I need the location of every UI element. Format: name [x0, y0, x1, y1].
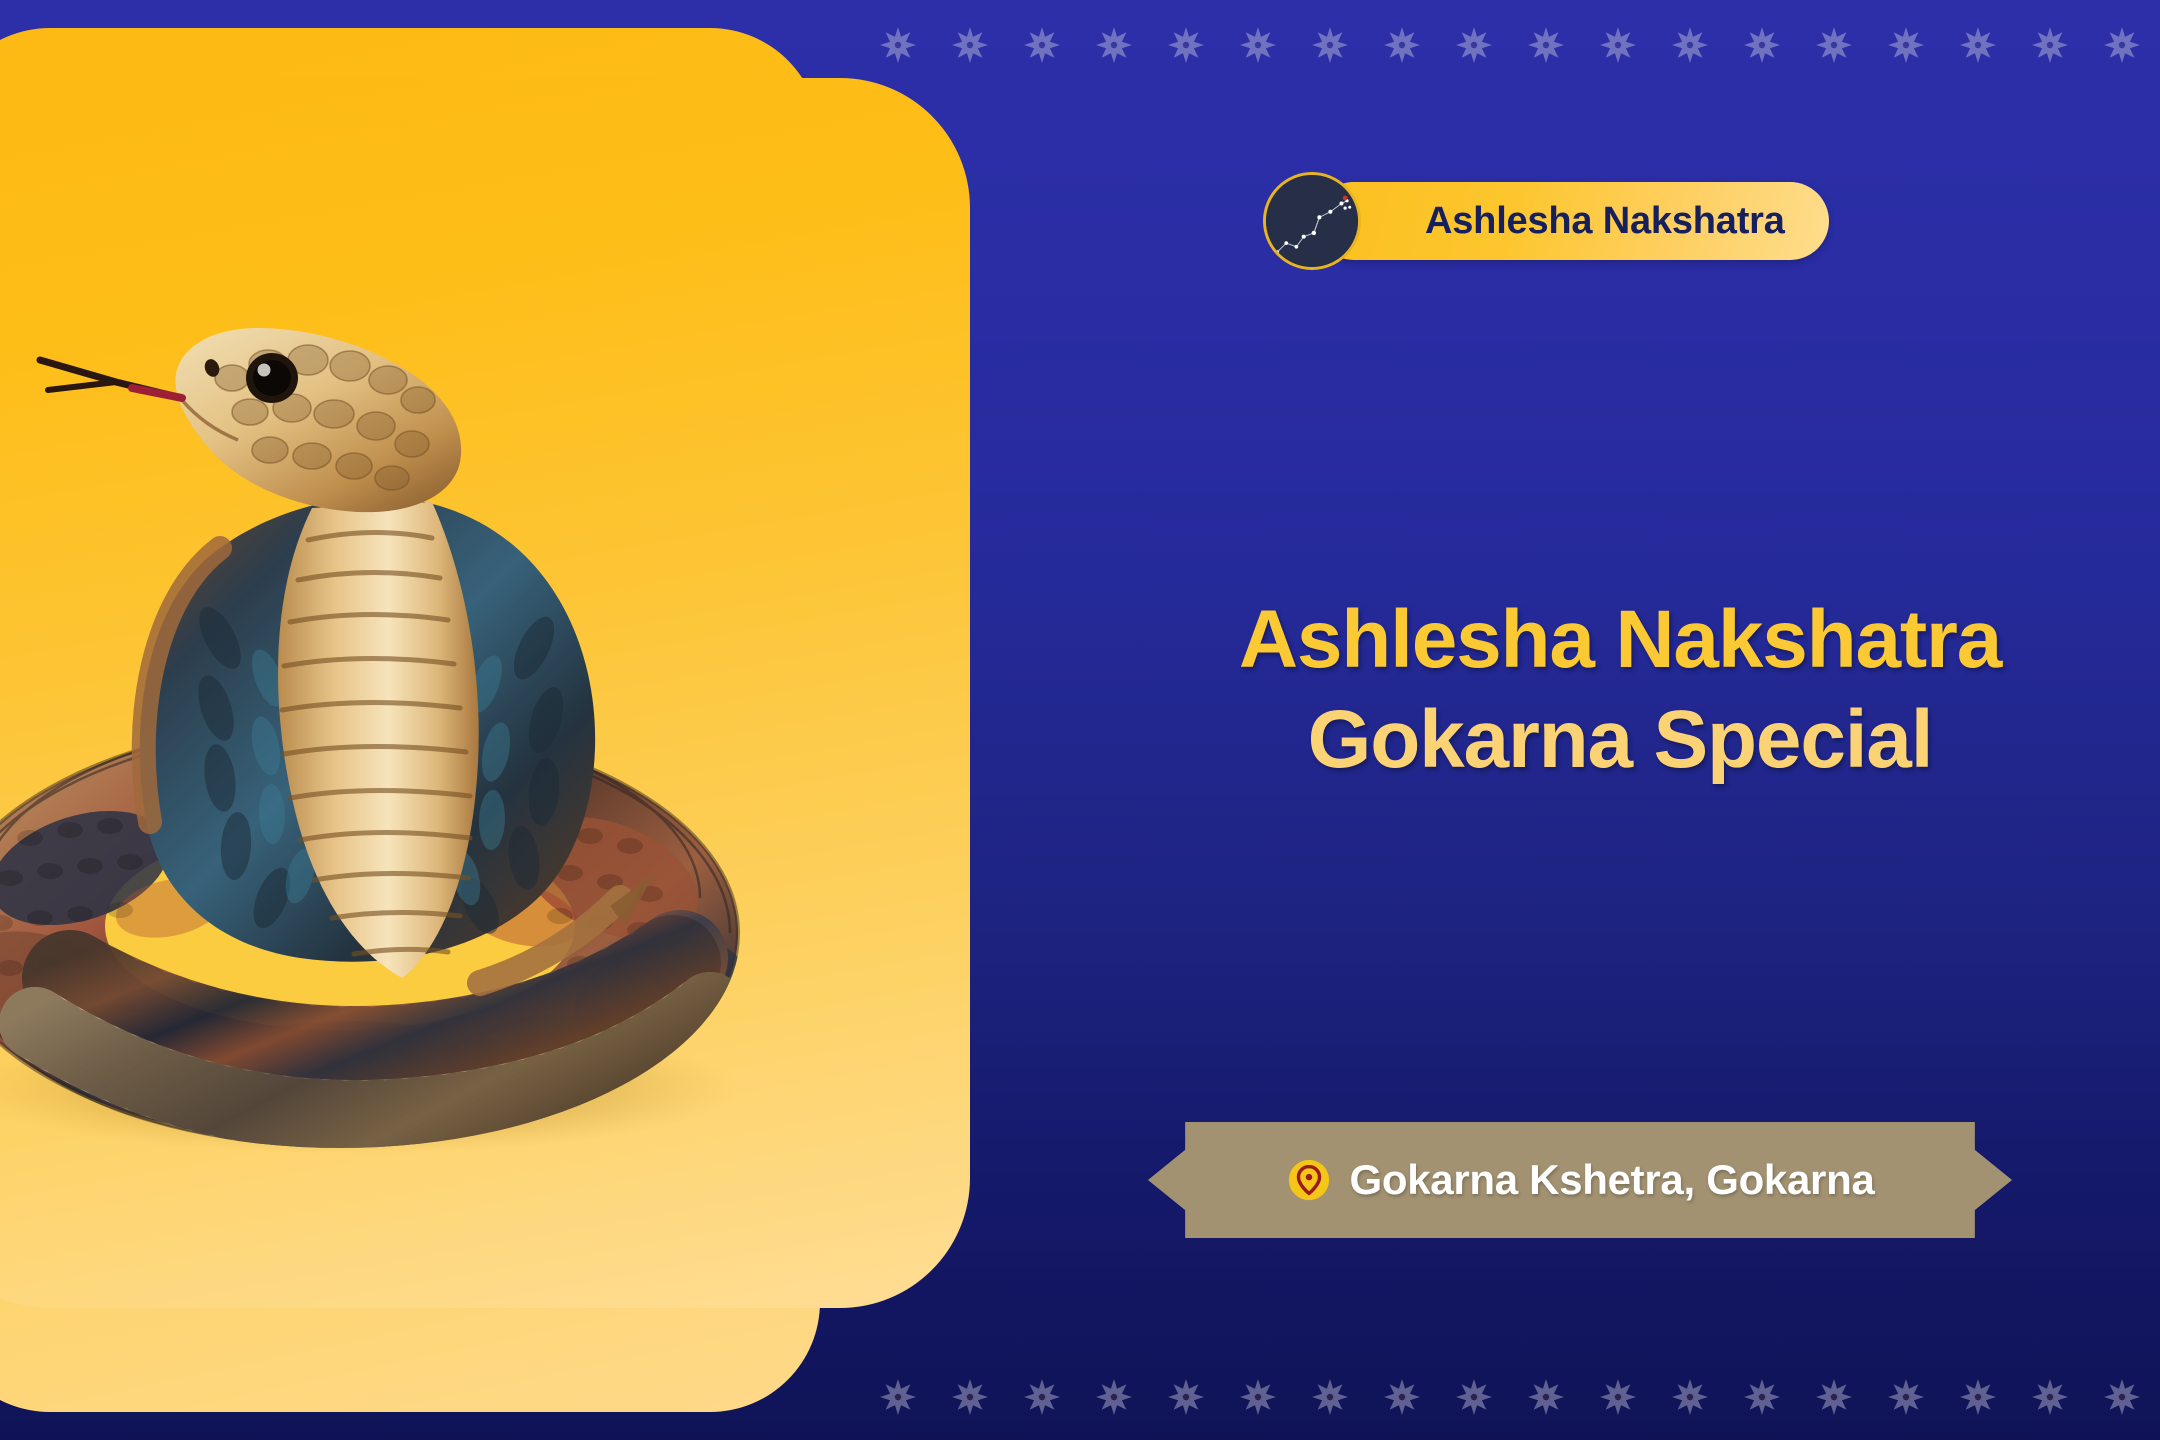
- eight-point-star-icon: [952, 1379, 988, 1415]
- eight-point-star-icon: [1960, 1379, 1996, 1415]
- eight-point-star-icon: [2104, 27, 2140, 63]
- badge-label: Ashlesha Nakshatra: [1425, 200, 1785, 243]
- eight-point-star-icon: [1672, 1379, 1708, 1415]
- eight-point-star-icon: [1168, 1379, 1204, 1415]
- eight-point-star-icon: [1672, 27, 1708, 63]
- badge-pill[interactable]: Ashlesha Nakshatra: [1315, 182, 1829, 260]
- eight-point-star-icon: [880, 27, 916, 63]
- eight-point-star-icon: [1528, 27, 1564, 63]
- eight-point-star-icon: [1312, 1379, 1348, 1415]
- title-line-2: Gokarna Special: [1120, 690, 2120, 790]
- eight-point-star-icon: [952, 27, 988, 63]
- title-line-1: Ashlesha Nakshatra: [1120, 590, 2120, 690]
- eight-point-star-icon: [1024, 27, 1060, 63]
- eight-point-star-icon: [1600, 1379, 1636, 1415]
- hero-panel-front: [0, 78, 970, 1308]
- eight-point-star-icon: [1456, 27, 1492, 63]
- eight-point-star-icon: [1384, 27, 1420, 63]
- eight-point-star-icon: [1456, 1379, 1492, 1415]
- eight-point-star-icon: [1384, 1379, 1420, 1415]
- eight-point-star-icon: [1600, 27, 1636, 63]
- eight-point-star-icon: [1744, 1379, 1780, 1415]
- location-text: Gokarna Kshetra, Gokarna: [1350, 1156, 1875, 1204]
- eight-point-star-icon: [2104, 1379, 2140, 1415]
- eight-point-star-icon: [1960, 27, 1996, 63]
- eight-point-star-icon: [1888, 1379, 1924, 1415]
- location-banner[interactable]: Gokarna Kshetra, Gokarna: [1148, 1122, 2012, 1238]
- eight-point-star-icon: [1096, 27, 1132, 63]
- page-title: Ashlesha Nakshatra Gokarna Special: [1120, 590, 2120, 790]
- eight-point-star-icon: [1096, 1379, 1132, 1415]
- poster-canvas: Ashlesha Nakshatra: [0, 0, 2160, 1440]
- cobra-snake-illustration: [0, 78, 890, 1308]
- eight-point-star-icon: [1240, 1379, 1276, 1415]
- eight-point-star-icon: [1240, 27, 1276, 63]
- eight-point-star-icon: [1024, 1379, 1060, 1415]
- eight-point-star-icon: [1744, 27, 1780, 63]
- eight-point-star-icon: [1528, 1379, 1564, 1415]
- eight-point-star-icon: [1816, 1379, 1852, 1415]
- constellation-icon: [1263, 172, 1361, 270]
- eight-point-star-icon: [1168, 27, 1204, 63]
- eight-point-star-icon: [1816, 27, 1852, 63]
- eight-point-star-icon: [2032, 1379, 2068, 1415]
- eight-point-star-icon: [1312, 27, 1348, 63]
- eight-point-star-icon: [2032, 27, 2068, 63]
- eight-point-star-icon: [880, 1379, 916, 1415]
- eight-point-star-icon: [1888, 27, 1924, 63]
- map-pin-icon: [1286, 1157, 1332, 1203]
